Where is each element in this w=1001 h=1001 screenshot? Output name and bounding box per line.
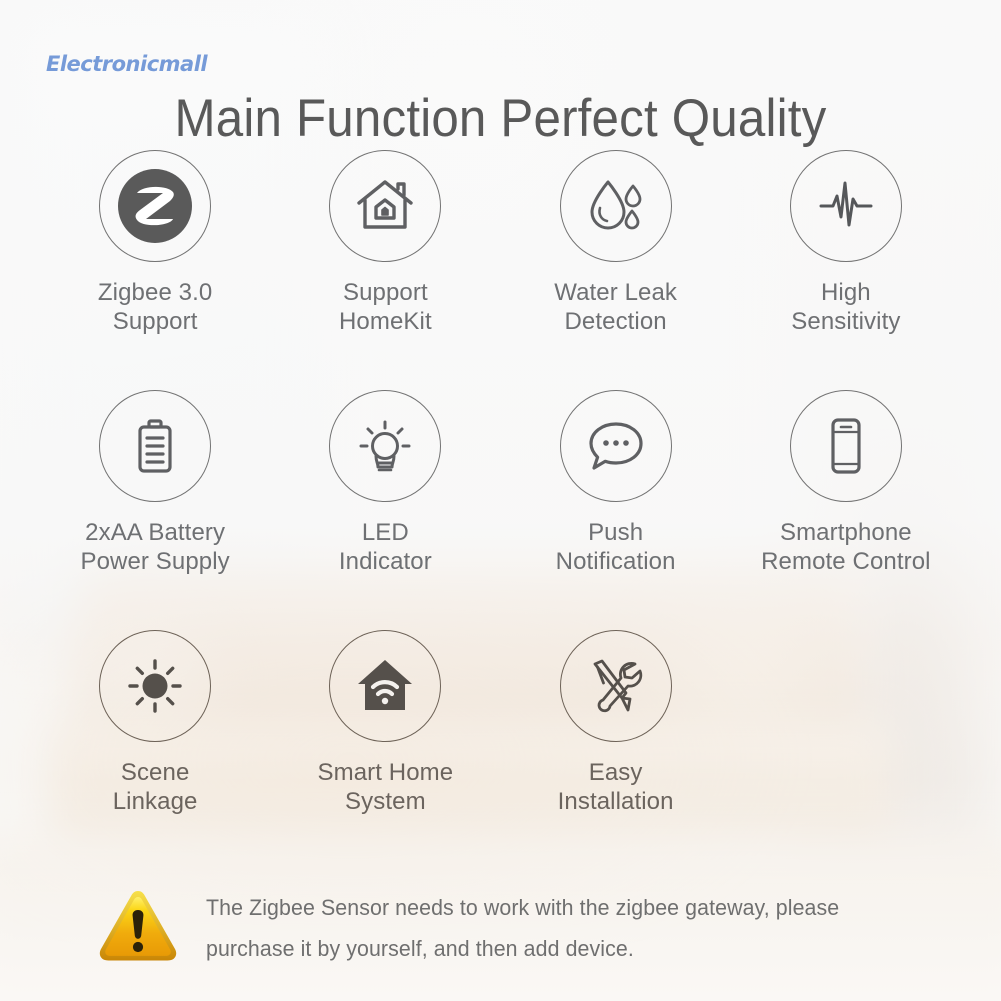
feature-easy-installation[interactable]: Easy Installation (501, 630, 731, 816)
feature-label: 2xAA Battery Power Supply (80, 518, 229, 576)
feature-label: Water Leak Detection (554, 278, 677, 336)
house-wifi-icon (329, 630, 441, 742)
feature-label: Zigbee 3.0 Support (98, 278, 212, 336)
sun-brightness-icon (99, 630, 211, 742)
feature-smartphone-remote-control[interactable]: Smartphone Remote Control (731, 390, 961, 576)
home-icon (329, 150, 441, 262)
wrench-screwdriver-icon (560, 630, 672, 742)
feature-led-indicator[interactable]: LED Indicator (270, 390, 500, 576)
feature-label: Support HomeKit (339, 278, 432, 336)
watermark-electronicmall: Electronicmall (46, 52, 207, 76)
warning-triangle-icon (96, 887, 180, 968)
feature-label: Smart Home System (318, 758, 454, 816)
feature-label: LED Indicator (339, 518, 432, 576)
zigbee-logo-icon (99, 150, 211, 262)
feature-high-sensitivity[interactable]: High Sensitivity (731, 150, 961, 336)
smartphone-icon (790, 390, 902, 502)
footer-note-text: The Zigbee Sensor needs to work with the… (206, 883, 919, 969)
feature-scene-linkage[interactable]: Scene Linkage (40, 630, 270, 816)
feature-battery-power-supply[interactable]: 2xAA Battery Power Supply (40, 390, 270, 576)
chat-bubble-icon (560, 390, 672, 502)
water-drop-icon (560, 150, 672, 262)
lightbulb-icon (329, 390, 441, 502)
feature-row-3: Scene Linkage Smart Home Syst (40, 630, 961, 816)
battery-icon (99, 390, 211, 502)
feature-row3-spacer (731, 630, 961, 816)
feature-label: Push Notification (556, 518, 676, 576)
feature-label: Scene Linkage (113, 758, 198, 816)
feature-grid: Zigbee 3.0 Support Support HomeKit (40, 150, 961, 816)
feature-smart-home-system[interactable]: Smart Home System (270, 630, 500, 816)
pulse-wave-icon (790, 150, 902, 262)
feature-label: Easy Installation (558, 758, 674, 816)
footer-note: The Zigbee Sensor needs to work with the… (96, 883, 941, 969)
feature-water-leak-detection[interactable]: Water Leak Detection (501, 150, 731, 336)
page-title: Main Function Perfect Quality (35, 88, 966, 149)
product-infographic: Electronicmall Main Function Perfect Qua… (0, 0, 1001, 1001)
feature-label: High Sensitivity (791, 278, 900, 336)
feature-zigbee-support[interactable]: Zigbee 3.0 Support (40, 150, 270, 336)
feature-row-1: Zigbee 3.0 Support Support HomeKit (40, 150, 961, 336)
feature-label: Smartphone Remote Control (761, 518, 930, 576)
feature-row-2: 2xAA Battery Power Supply (40, 390, 961, 576)
feature-push-notification[interactable]: Push Notification (501, 390, 731, 576)
feature-support-homekit[interactable]: Support HomeKit (270, 150, 500, 336)
